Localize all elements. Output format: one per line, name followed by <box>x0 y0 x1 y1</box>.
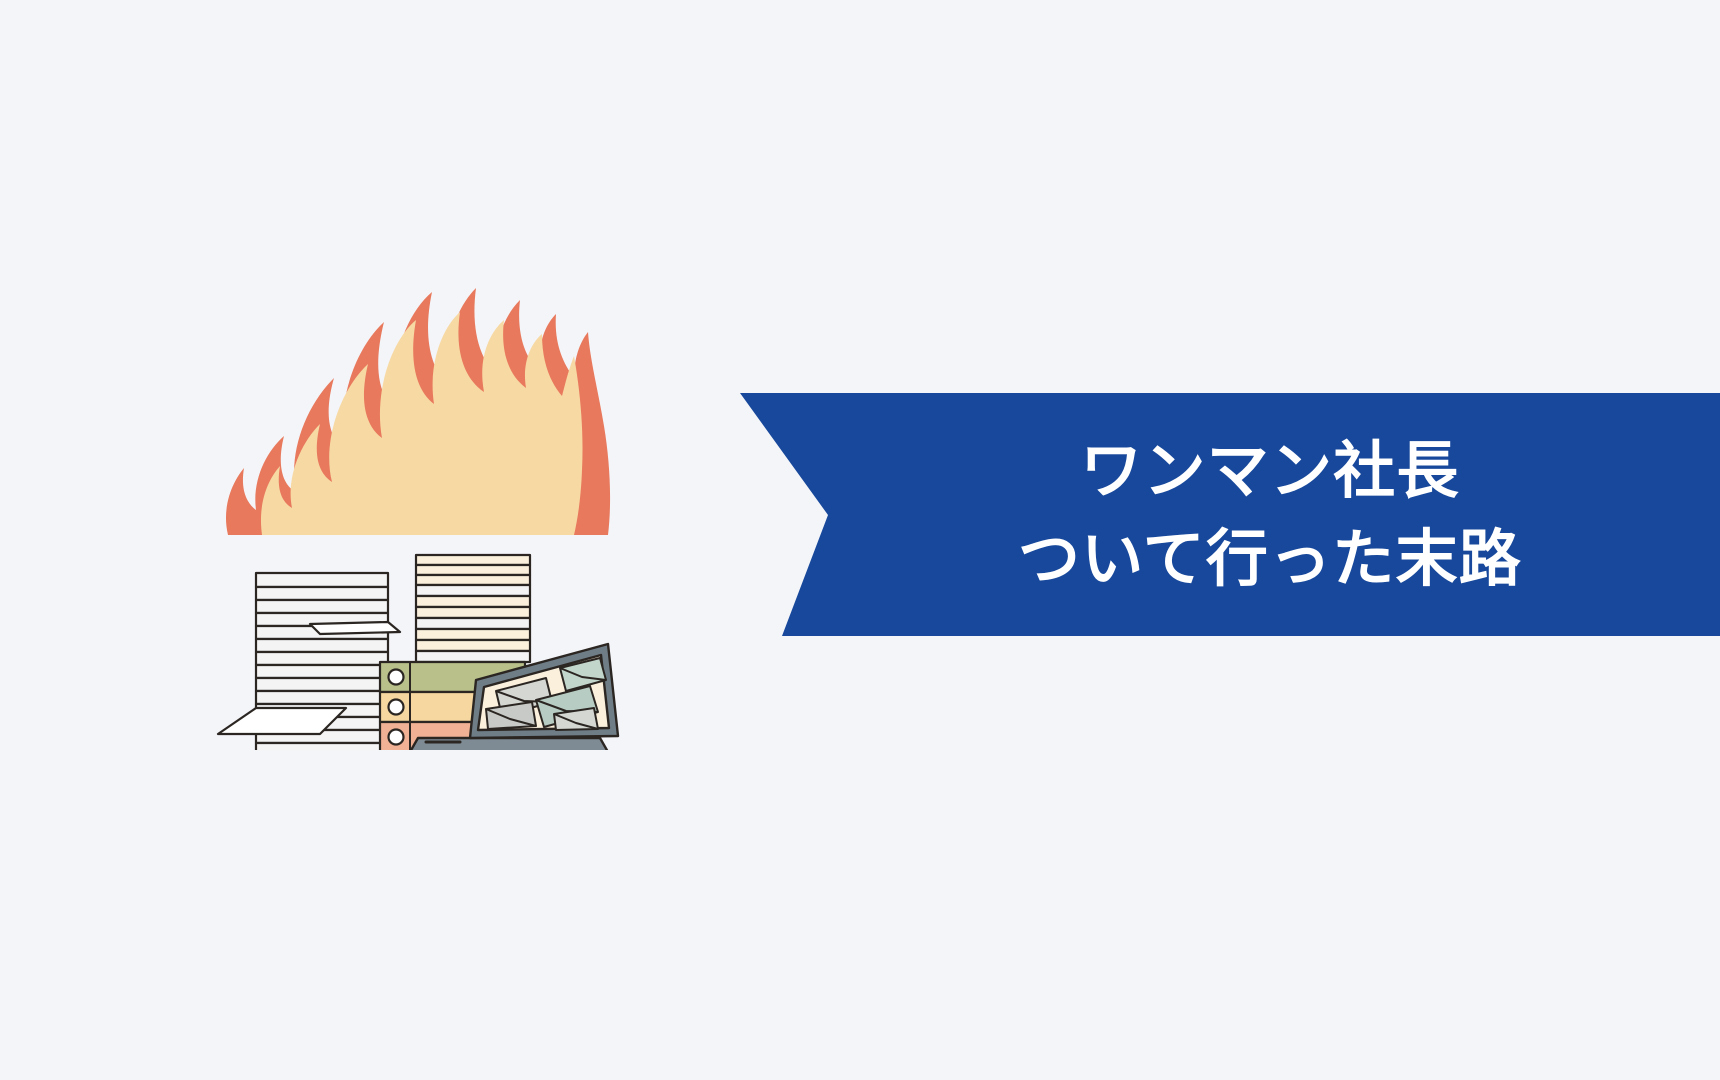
poster-canvas: ワンマン社長 ついて行った末路 <box>0 0 1720 1080</box>
title-banner: ワンマン社長 ついて行った末路 <box>700 360 1720 670</box>
burnout-illustration <box>170 230 620 750</box>
banner-line-1: ワンマン社長 <box>1080 427 1459 515</box>
flame-group <box>226 288 610 535</box>
binder-ring-3 <box>389 730 404 745</box>
binder-ring-2 <box>389 700 404 715</box>
banner-line-2: ついて行った末路 <box>1018 515 1522 603</box>
banner-text-block: ワンマン社長 ついて行った末路 <box>700 360 1720 670</box>
paper-stack-left <box>218 573 400 750</box>
laptop-base <box>410 738 608 750</box>
loose-sheet-upper <box>310 622 400 634</box>
binder-ring-1 <box>389 670 404 685</box>
paper-stack-right <box>416 555 530 662</box>
